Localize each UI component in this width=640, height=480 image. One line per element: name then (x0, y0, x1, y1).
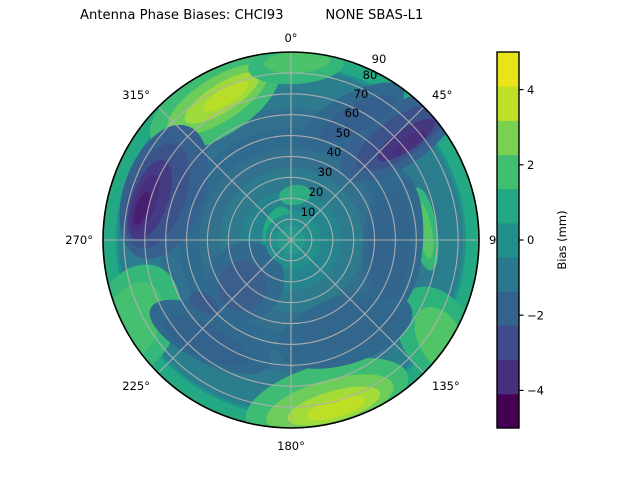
azimuth-label-270: 270° (65, 233, 93, 247)
colorbar-tick-label: −4 (527, 384, 544, 398)
colorbar-swatch (497, 223, 519, 258)
colorbar-tick-label: 4 (527, 83, 534, 97)
colorbar-tick-label: 0 (527, 233, 534, 247)
azimuth-label-180: 180° (277, 439, 305, 453)
colorbar-swatch (497, 120, 519, 155)
radial-label-70: 70 (354, 87, 369, 101)
colorbar-tick-label: 2 (527, 158, 534, 172)
colorbar-swatch (497, 189, 519, 224)
colorbar-swatch (497, 325, 519, 360)
colorbar-swatch (497, 394, 519, 429)
colorbar-swatch (497, 86, 519, 121)
radial-label-50: 50 (336, 126, 351, 140)
azimuth-label-45: 45° (432, 88, 452, 102)
colorbar-swatch (497, 155, 519, 190)
radial-label-30: 30 (318, 165, 333, 179)
figure-title-text: Antenna Phase Biases: CHCI93 NONE SBAS-L… (80, 6, 423, 26)
colorbar-swatches (497, 52, 519, 429)
radial-label-80: 80 (363, 68, 378, 82)
colorbar[interactable]: 420−2−4 Bias (mm) (497, 52, 569, 429)
colorbar-swatch (497, 291, 519, 326)
radial-label-90: 90 (372, 52, 387, 66)
figure-canvas: Antenna Phase Biases: CHCI93 NONE SBAS-L… (0, 0, 640, 480)
colorbar-swatch (497, 257, 519, 292)
radial-label-60: 60 (345, 106, 360, 120)
figure-title: Antenna Phase Biases: CHCI93 NONE SBAS-L… (0, 6, 640, 26)
colorbar-swatch (497, 52, 519, 87)
radial-label-20: 20 (309, 185, 324, 199)
azimuth-label-0: 0° (284, 31, 297, 45)
colorbar-axis-title: Bias (mm) (555, 210, 569, 269)
azimuth-label-315: 315° (122, 88, 150, 102)
radial-label-10: 10 (301, 205, 316, 219)
polar-plot-svg: 0° 45° 90 135° 180° 225° 270° 315° 10 20… (0, 0, 640, 480)
colorbar-swatch (497, 360, 519, 395)
azimuth-label-135: 135° (432, 379, 460, 393)
polar-grid (103, 52, 479, 428)
colorbar-ticks: 420−2−4 (519, 83, 544, 398)
azimuth-label-225: 225° (122, 379, 150, 393)
radial-label-40: 40 (327, 145, 342, 159)
colorbar-tick-label: −2 (527, 308, 544, 322)
